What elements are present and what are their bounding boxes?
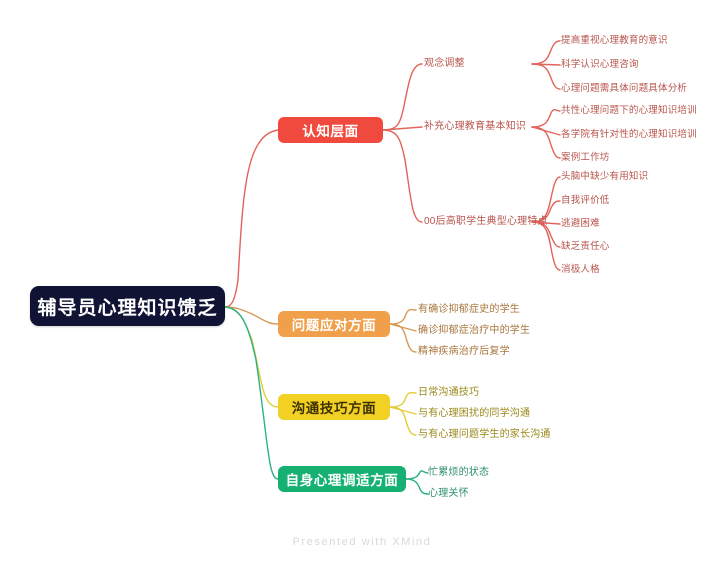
root-topic[interactable]: 辅导员心理知识馈乏 — [30, 286, 225, 326]
connector-sub-1-2-leaf-3 — [532, 127, 560, 158]
leaf-lack-useful-knowledge[interactable]: 头脑中缺少有用知识 — [561, 170, 648, 184]
subtopic-communicate-with-distressed-student[interactable]: 与有心理困扰的同学沟通 — [418, 407, 530, 421]
leaf-avoid-difficulty[interactable]: 逃避困难 — [561, 217, 600, 231]
connector-root-to-branch-1 — [225, 130, 278, 307]
connector-branch-1-sub-1 — [383, 64, 422, 130]
connector-sub-1-1-leaf-3 — [532, 64, 560, 89]
connector-sub-1-3-leaf-5 — [532, 222, 560, 270]
connector-branch-3-sub-1 — [390, 393, 416, 407]
connector-branch-3-sub-3 — [390, 407, 416, 435]
connector-branch-4-sub-2 — [406, 479, 428, 494]
main-topic-cognitive[interactable]: 认知层面 — [278, 117, 383, 143]
main-topic-problem-response[interactable]: 问题应对方面 — [278, 311, 390, 337]
leaf-college-targeted-training[interactable]: 各学院有针对性的心理知识培训 — [561, 128, 697, 142]
connector-branch-1-sub-3 — [383, 130, 422, 222]
main-topic-communication-skills[interactable]: 沟通技巧方面 — [278, 394, 390, 420]
connector-sub-1-1-leaf-2 — [532, 64, 560, 65]
subtopic-supplement-basic-knowledge[interactable]: 补充心理教育基本知识 — [424, 120, 526, 134]
subtopic-depression-in-treatment-student[interactable]: 确诊抑郁症治疗中的学生 — [418, 324, 530, 338]
watermark-footer: Presented with XMind — [0, 536, 724, 548]
connector-sub-1-1-leaf-1 — [532, 41, 560, 64]
mindmap-canvas: 辅导员心理知识馈乏 认知层面 观念调整 提高重视心理教育的意识 科学认识心理咨询… — [0, 0, 724, 570]
subtopic-psychological-care[interactable]: 心理关怀 — [428, 487, 469, 501]
leaf-lack-responsibility[interactable]: 缺乏责任心 — [561, 240, 610, 254]
subtopic-concept-adjustment[interactable]: 观念调整 — [424, 57, 465, 71]
connector-branch-2-sub-3 — [390, 324, 416, 352]
connector-branch-2-sub-2 — [390, 324, 416, 331]
connector-sub-1-2-leaf-1 — [532, 110, 560, 127]
connector-branch-3-sub-2 — [390, 407, 416, 414]
connector-root-to-branch-2 — [225, 307, 278, 324]
subtopic-communicate-with-parents[interactable]: 与有心理问题学生的家长沟通 — [418, 428, 551, 442]
subtopic-busy-tired-annoyed-state[interactable]: 忙累烦的状态 — [428, 466, 489, 480]
connector-root-to-branch-4 — [225, 307, 278, 479]
subtopic-return-after-treatment[interactable]: 精神疾病治疗后复学 — [418, 345, 510, 359]
leaf-common-issue-training[interactable]: 共性心理问题下的心理知识培训 — [561, 104, 697, 118]
subtopic-gen00-traits[interactable]: 00后高职学生典型心理特点 — [424, 215, 548, 229]
subtopic-depression-history-student[interactable]: 有确诊抑郁症史的学生 — [418, 303, 520, 317]
leaf-raise-awareness[interactable]: 提高重视心理教育的意识 — [561, 34, 668, 48]
subtopic-daily-communication[interactable]: 日常沟通技巧 — [418, 386, 479, 400]
leaf-case-specific-analysis[interactable]: 心理问题需具体问题具体分析 — [561, 82, 687, 96]
connector-branch-2-sub-1 — [390, 310, 416, 324]
connector-root-to-branch-3 — [225, 307, 278, 407]
leaf-case-workshop[interactable]: 案例工作坊 — [561, 151, 610, 165]
leaf-negative-personality[interactable]: 消极人格 — [561, 263, 600, 277]
connector-sub-1-2-leaf-2 — [532, 127, 560, 135]
connector-branch-1-sub-2 — [383, 127, 422, 130]
leaf-low-self-evaluation[interactable]: 自我评价低 — [561, 194, 610, 208]
main-topic-self-adjustment[interactable]: 自身心理调适方面 — [278, 466, 406, 492]
connector-branch-4-sub-1 — [406, 471, 428, 479]
leaf-scientific-counseling[interactable]: 科学认识心理咨询 — [561, 58, 639, 72]
